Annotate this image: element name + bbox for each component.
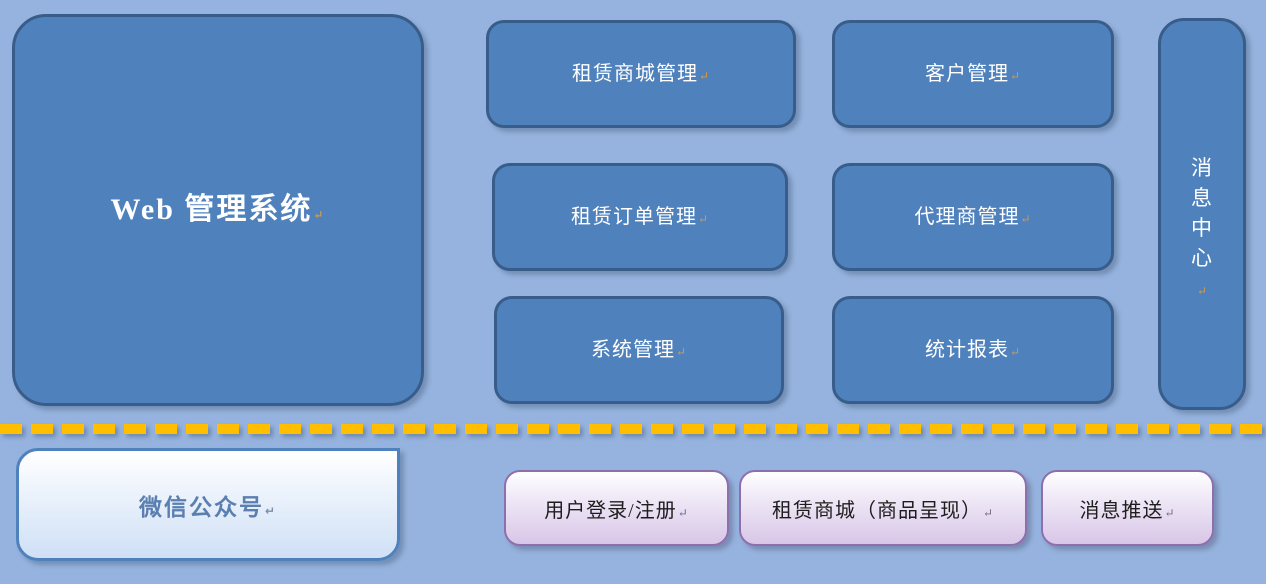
paragraph-mark-icon: ↵ — [698, 212, 709, 226]
architecture-diagram: Web 管理系统↵ 租赁商城管理↵ 客户管理↵ 租赁订单管理↵ 代理商管理↵ 系… — [0, 0, 1266, 584]
module-box-message-center[interactable]: 消 息 中 心↵ — [1158, 18, 1246, 410]
paragraph-mark-icon: ↵ — [313, 208, 325, 222]
tier-divider-dashed-line — [0, 424, 1266, 434]
paragraph-mark-icon: ↵ — [1197, 284, 1208, 298]
feature-label: 消息推送↵ — [1079, 494, 1175, 523]
message-center-text: 消 息 中 心 — [1191, 156, 1213, 269]
module-box-statistical-reports[interactable]: 统计报表↵ — [832, 296, 1114, 404]
module-label: 系统管理↵ — [591, 338, 687, 363]
feature-text: 用户登录/注册 — [544, 500, 677, 522]
paragraph-mark-icon: ↵ — [676, 345, 687, 359]
feature-box-message-push[interactable]: 消息推送↵ — [1041, 470, 1214, 546]
module-box-rental-mall-management[interactable]: 租赁商城管理↵ — [486, 20, 796, 128]
feature-text: 租赁商城（商品呈现） — [772, 500, 982, 522]
feature-text: 消息推送 — [1079, 500, 1163, 522]
module-text: 统计报表 — [925, 339, 1009, 361]
paragraph-mark-icon: ↵ — [1020, 212, 1031, 226]
wechat-official-account-text: 微信公众号 — [139, 495, 264, 521]
module-label: 租赁订单管理↵ — [571, 205, 709, 230]
web-management-system-box[interactable]: Web 管理系统↵ — [12, 14, 424, 406]
paragraph-mark-icon: ↵ — [699, 69, 710, 83]
module-label: 客户管理↵ — [925, 62, 1021, 87]
module-label: 租赁商城管理↵ — [572, 62, 710, 87]
paragraph-mark-icon: ↵ — [1164, 506, 1175, 520]
paragraph-mark-icon: ↵ — [983, 506, 994, 520]
wechat-official-account-label: 微信公众号↵ — [139, 488, 277, 522]
module-box-rental-order-management[interactable]: 租赁订单管理↵ — [492, 163, 788, 271]
module-box-agent-management[interactable]: 代理商管理↵ — [832, 163, 1114, 271]
paragraph-mark-icon: ↵ — [1010, 69, 1021, 83]
feature-label: 用户登录/注册↵ — [544, 494, 689, 523]
module-text: 代理商管理 — [914, 206, 1019, 228]
module-box-customer-management[interactable]: 客户管理↵ — [832, 20, 1114, 128]
module-text: 客户管理 — [925, 63, 1009, 85]
feature-box-user-login-register[interactable]: 用户登录/注册↵ — [504, 470, 729, 546]
wechat-official-account-box[interactable]: 微信公众号↵ — [16, 448, 400, 561]
module-text: 租赁商城管理 — [572, 63, 698, 85]
feature-label: 租赁商城（商品呈现）↵ — [772, 494, 994, 523]
paragraph-mark-icon: ↵ — [678, 506, 689, 520]
feature-box-rental-mall-product-display[interactable]: 租赁商城（商品呈现）↵ — [739, 470, 1027, 546]
module-text: 租赁订单管理 — [571, 206, 697, 228]
module-text: 系统管理 — [591, 339, 675, 361]
web-management-system-text: Web 管理系统 — [111, 193, 313, 226]
message-center-label: 消 息 中 心↵ — [1190, 125, 1214, 304]
web-management-system-label: Web 管理系统↵ — [111, 191, 326, 229]
module-label: 统计报表↵ — [925, 338, 1021, 363]
module-label: 代理商管理↵ — [914, 205, 1031, 230]
paragraph-mark-icon: ↵ — [265, 504, 277, 518]
module-box-system-management[interactable]: 系统管理↵ — [494, 296, 784, 404]
paragraph-mark-icon: ↵ — [1010, 345, 1021, 359]
